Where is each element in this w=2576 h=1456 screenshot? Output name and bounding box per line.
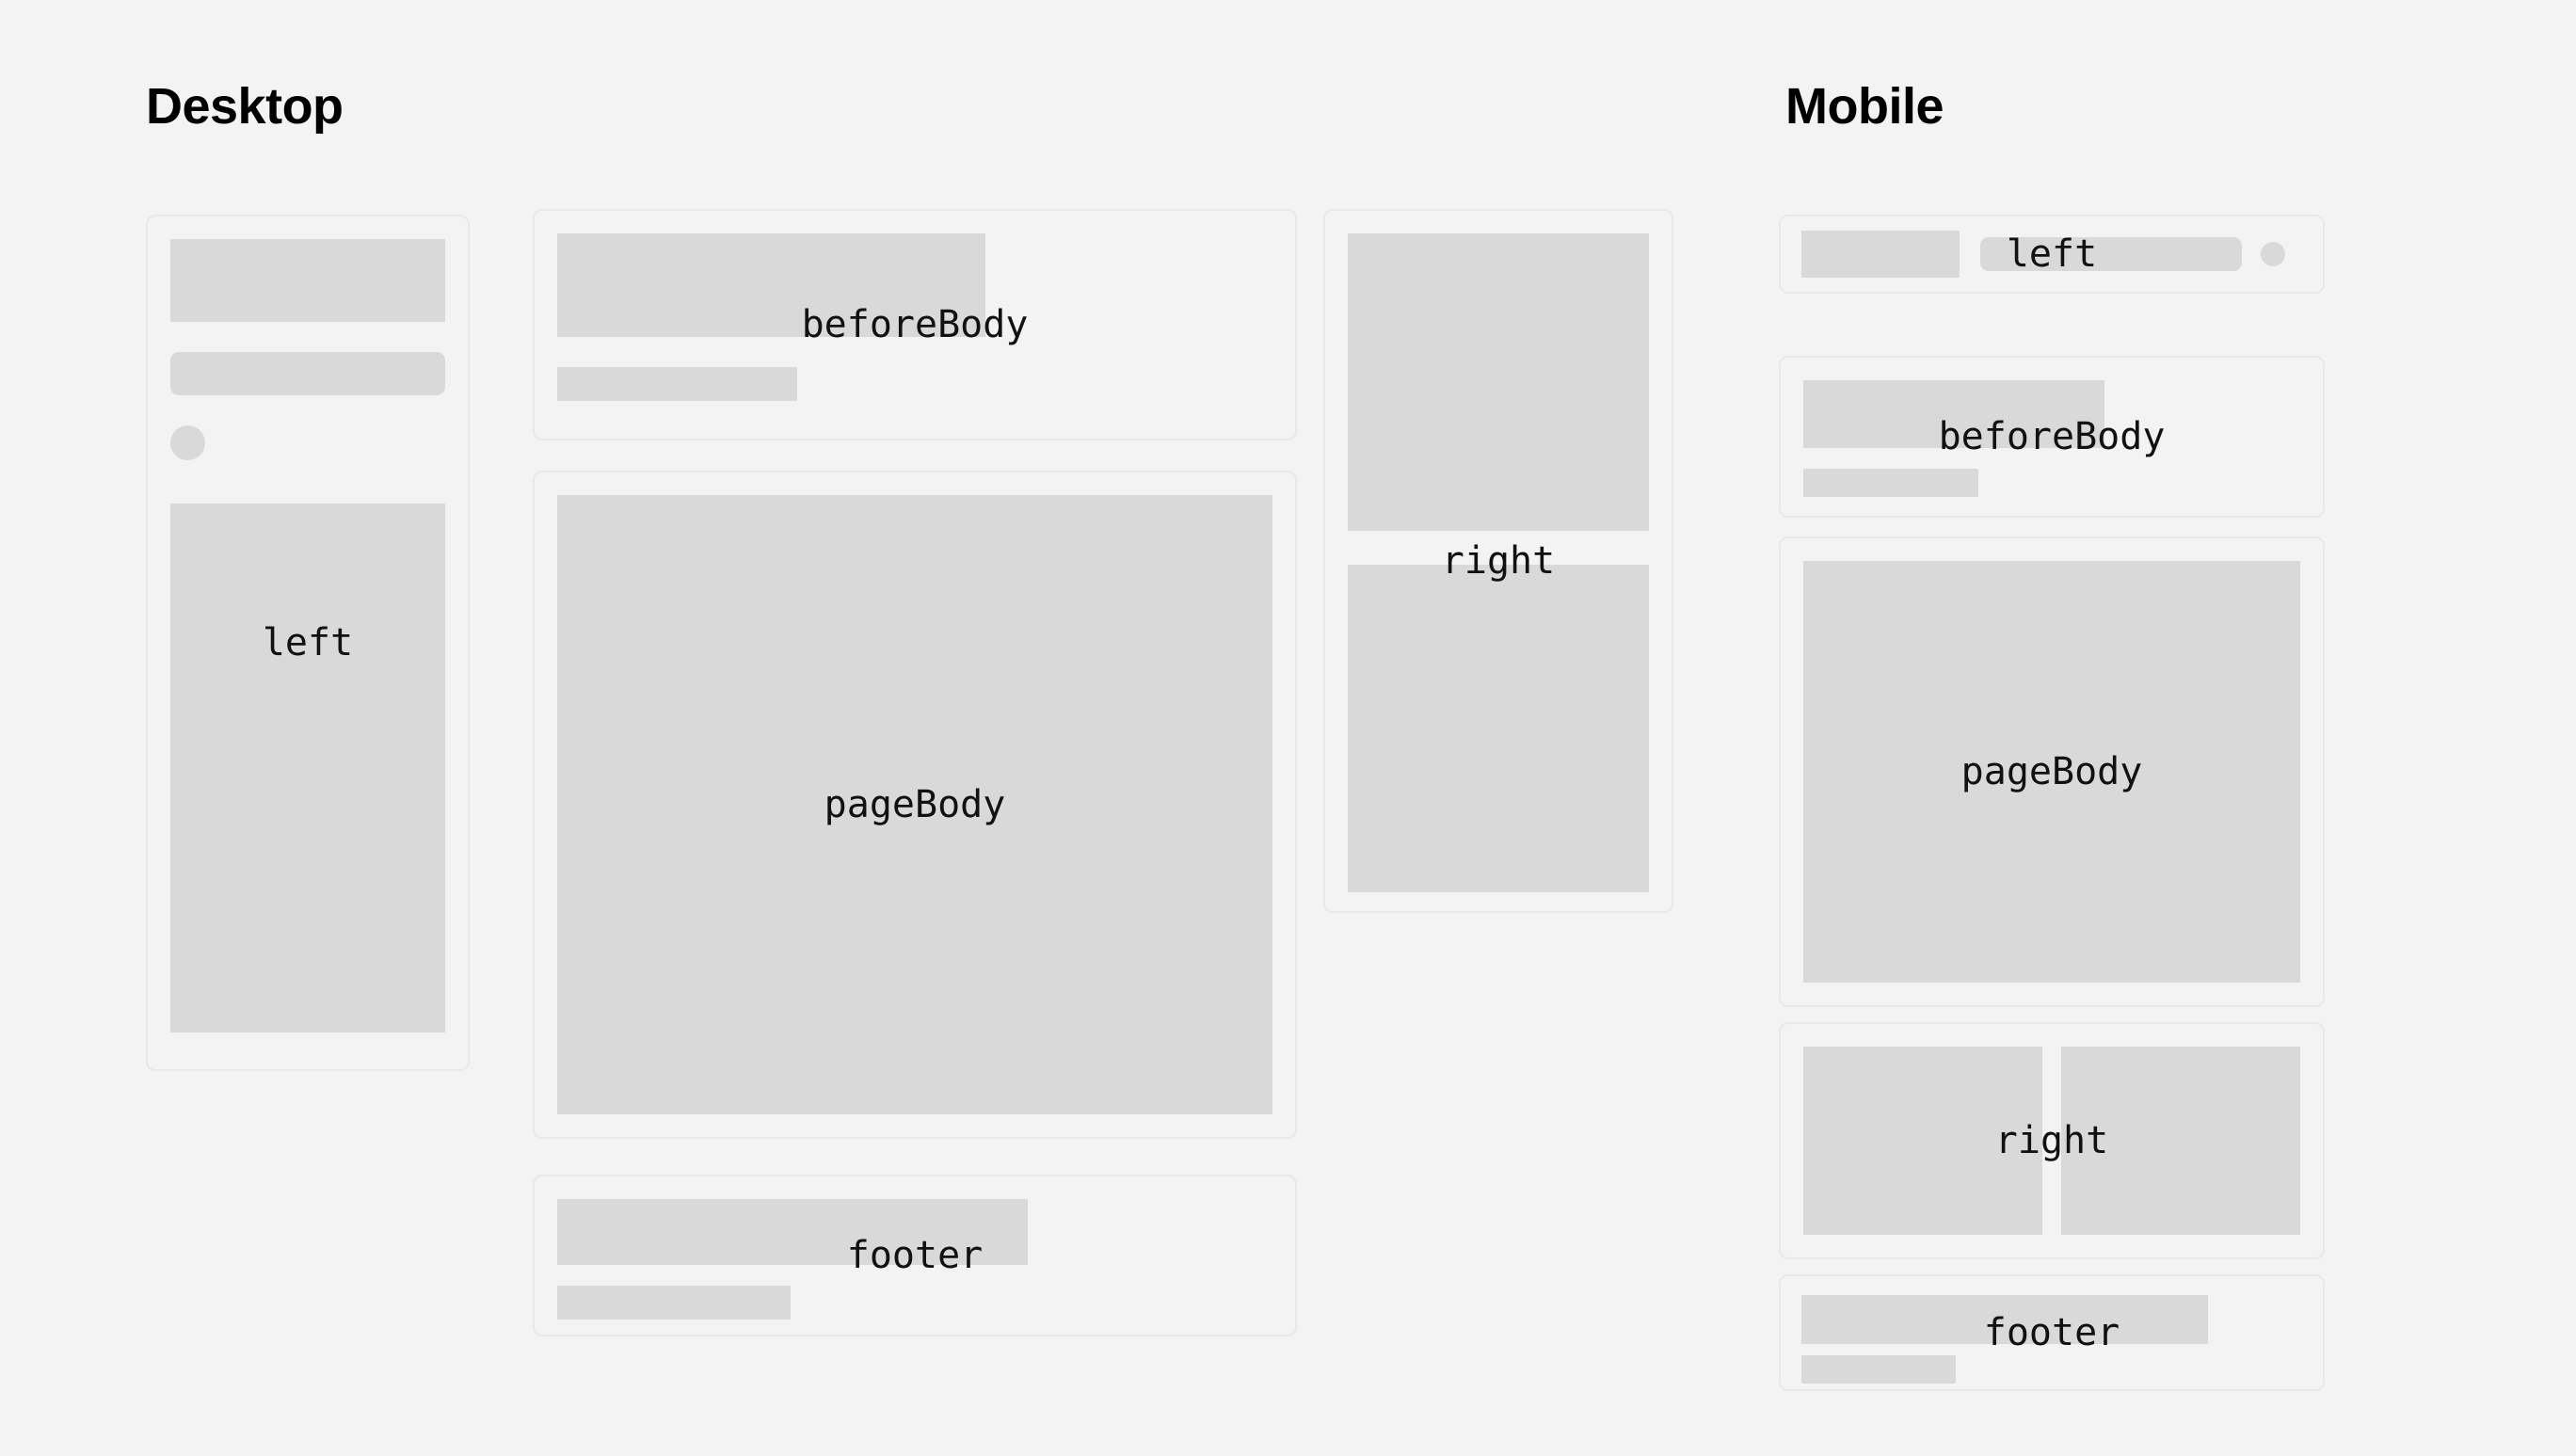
skeleton-secondary-block	[1801, 1355, 1956, 1384]
mobile-right-columns	[1803, 1047, 2300, 1235]
skeleton-secondary-block	[557, 1286, 791, 1320]
skeleton-header-block	[1801, 231, 1960, 278]
skeleton-headline-block	[1803, 380, 2104, 448]
skeleton-right-column-block	[2061, 1047, 2300, 1235]
mobile-slot-right-panel[interactable]: right	[1779, 1022, 2325, 1259]
skeleton-avatar-circle	[2261, 242, 2285, 266]
desktop-section-title: Desktop	[146, 81, 344, 132]
mobile-slot-beforebody-panel[interactable]: beforeBody	[1779, 356, 2325, 518]
skeleton-subline-block	[557, 367, 797, 401]
skeleton-header-block	[170, 239, 445, 322]
skeleton-content-block	[557, 495, 1272, 1114]
desktop-slot-beforebody-panel[interactable]: beforeBody	[533, 209, 1297, 440]
skeleton-avatar-circle	[170, 425, 205, 460]
mobile-slot-left-panel[interactable]: left	[1779, 215, 2325, 294]
skeleton-content-block	[1803, 561, 2300, 983]
skeleton-left-column-block	[1803, 1047, 2042, 1235]
mobile-slot-pagebody-panel[interactable]: pageBody	[1779, 536, 2325, 1007]
skeleton-primary-block	[557, 1199, 1028, 1265]
skeleton-pill-block	[170, 352, 445, 395]
column-gap	[2042, 1047, 2061, 1235]
desktop-slot-left-panel[interactable]: left	[146, 215, 470, 1071]
desktop-slot-pagebody-panel[interactable]: pageBody	[533, 471, 1297, 1139]
mobile-section-title: Mobile	[1785, 81, 1944, 132]
skeleton-headline-block	[557, 233, 985, 337]
desktop-slot-footer-panel[interactable]: footer	[533, 1175, 1297, 1336]
layout-preview-canvas: Desktop Mobile left beforeBody pageBody …	[0, 0, 2576, 1456]
skeleton-top-block	[1348, 233, 1649, 531]
skeleton-bottom-block	[1348, 565, 1649, 892]
skeleton-primary-block	[1801, 1295, 2208, 1344]
skeleton-subline-block	[1803, 469, 1978, 497]
mobile-slot-footer-panel[interactable]: footer	[1779, 1274, 2325, 1391]
desktop-slot-right-panel[interactable]: right	[1323, 209, 1673, 913]
skeleton-pill-block	[1980, 237, 2242, 271]
skeleton-body-block	[170, 504, 445, 1032]
